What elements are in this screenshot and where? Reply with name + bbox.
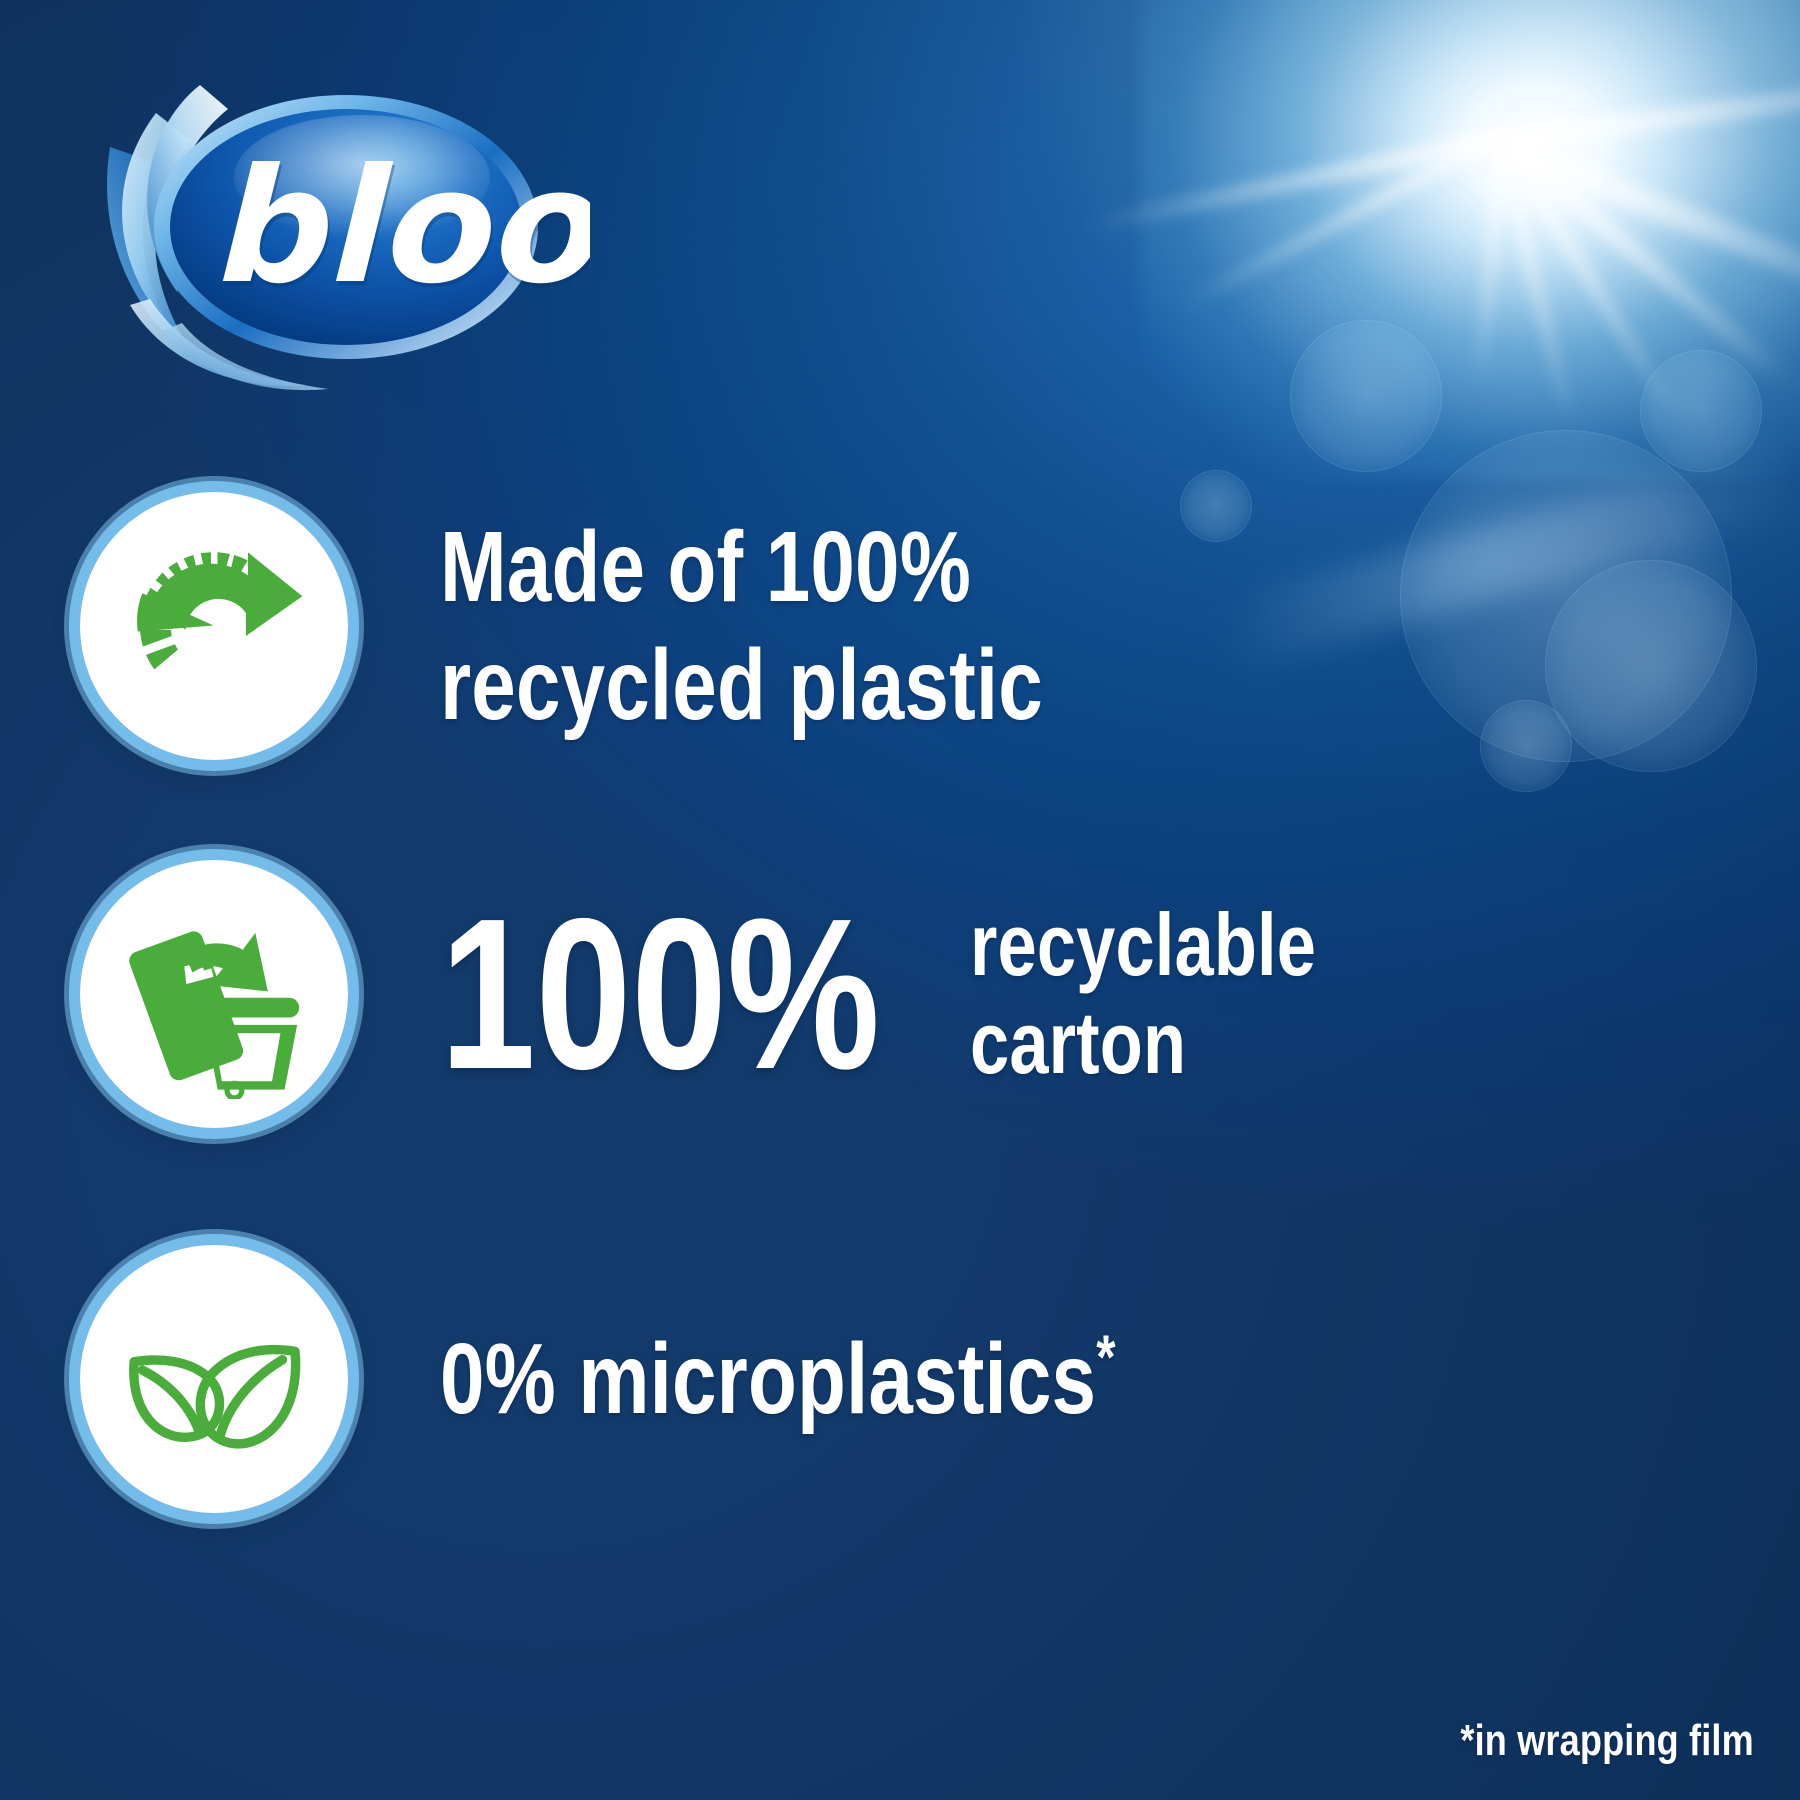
recycling-arrow-icon bbox=[80, 492, 348, 760]
lens-bokeh-circle bbox=[1480, 700, 1572, 792]
claim-line: 0% microplastics* bbox=[440, 1328, 1116, 1430]
claim-line: carton bbox=[970, 998, 1316, 1088]
promo-banner: bloo bloo bbox=[0, 0, 1800, 1800]
claim-row-microplastics: 0% microplastics* bbox=[80, 1245, 1285, 1513]
claim-line-text: 0% microplastics bbox=[440, 1323, 1096, 1435]
claim-line: recyclable bbox=[970, 900, 1316, 990]
claim-row-recyclable-carton: 100% recyclable carton bbox=[80, 860, 1402, 1128]
bloo-logo[interactable]: bloo bloo bbox=[70, 55, 590, 395]
claim-text-microplastics: 0% microplastics* bbox=[440, 1328, 1285, 1430]
claim-side-text: recyclable carton bbox=[970, 900, 1403, 1088]
leaves-icon bbox=[80, 1245, 348, 1513]
claim-text-recyclable-carton: 100% recyclable carton bbox=[440, 895, 1402, 1093]
claim-row-recycled-plastic: Made of 100% recycled plastic bbox=[80, 492, 1194, 760]
claim-big-number: 100% bbox=[440, 895, 880, 1093]
footnote-text: *in wrapping film bbox=[1461, 1716, 1754, 1766]
claim-line: Made of 100% bbox=[440, 516, 1043, 618]
lens-bokeh-circle bbox=[1640, 350, 1762, 472]
carton-into-bin-icon bbox=[80, 860, 348, 1128]
lens-bokeh-circle bbox=[1545, 560, 1757, 772]
claim-line: recycled plastic bbox=[440, 634, 1043, 736]
claim-text-recycled-plastic: Made of 100% recycled plastic bbox=[440, 516, 1194, 736]
asterisk-marker: * bbox=[1096, 1324, 1115, 1393]
svg-text:bloo: bloo bbox=[216, 135, 590, 319]
lens-bokeh-circle bbox=[1290, 320, 1442, 472]
